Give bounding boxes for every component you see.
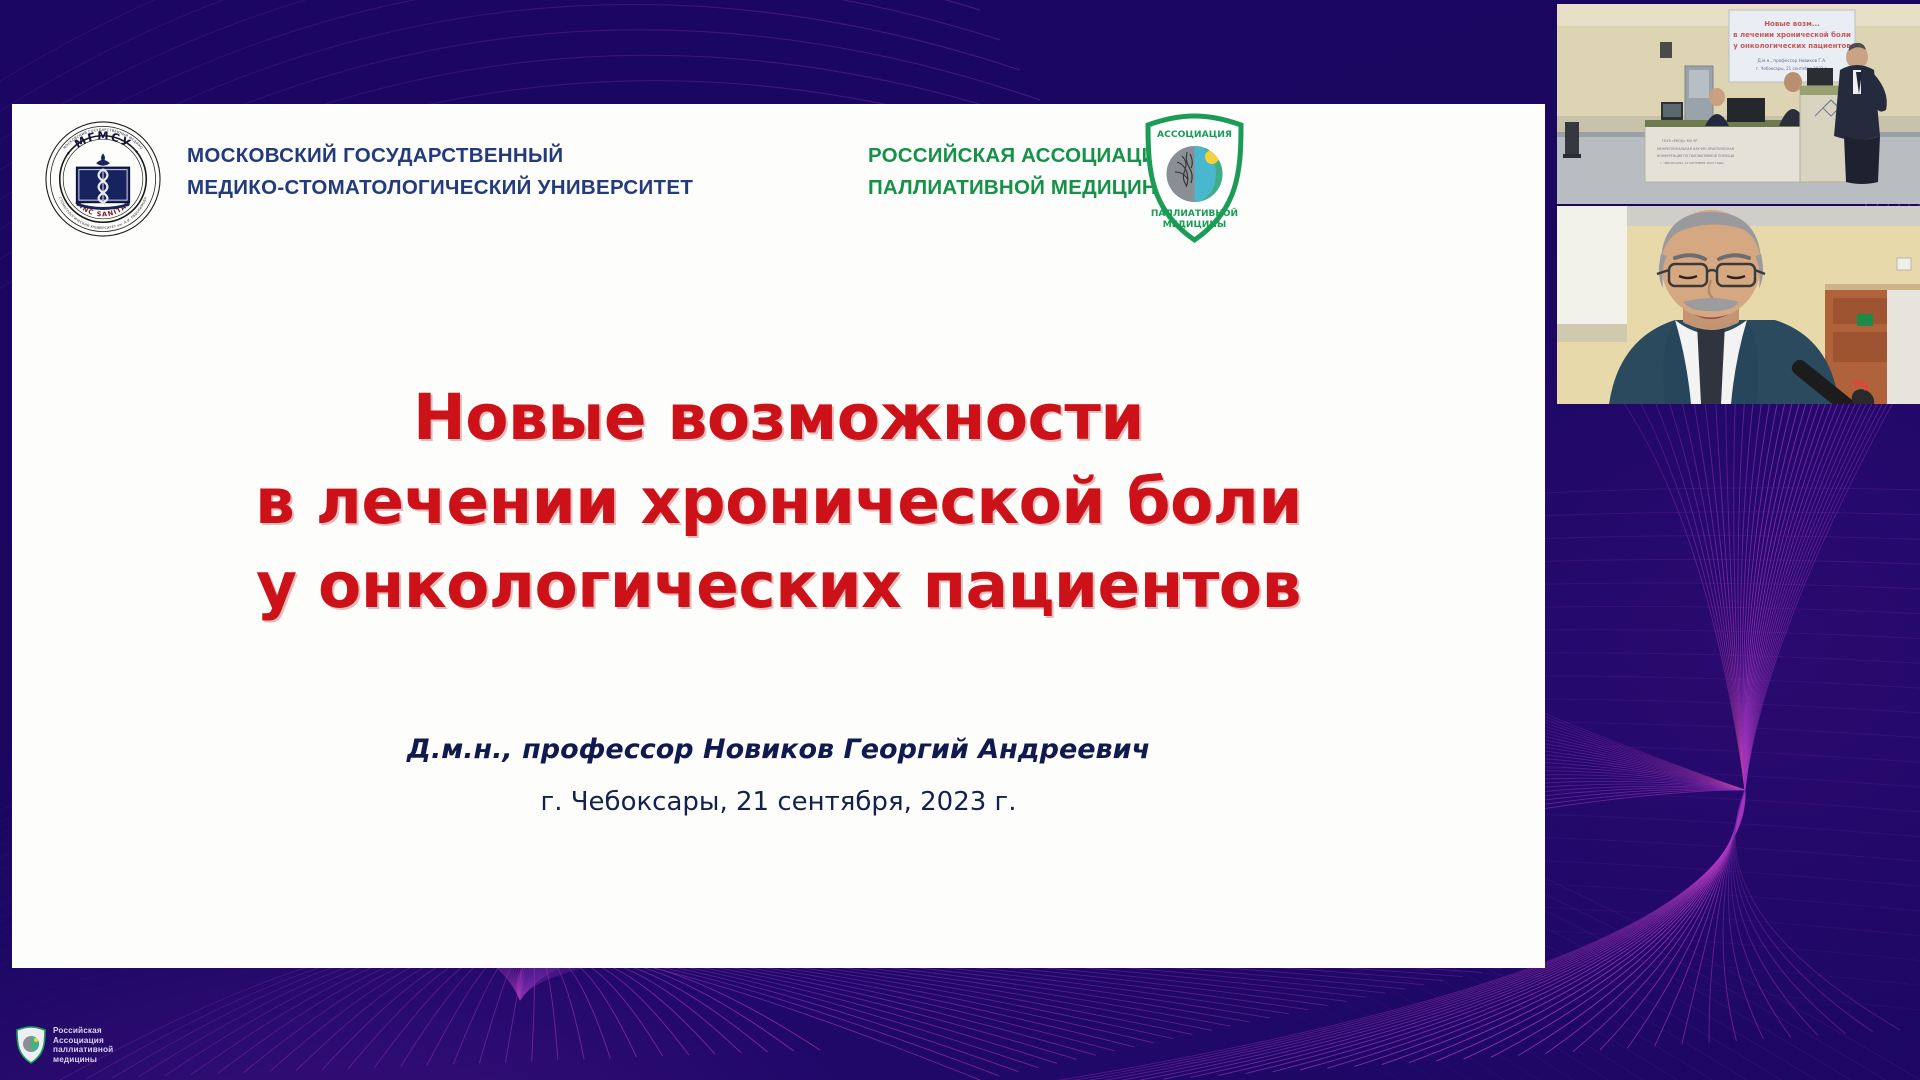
conference-room-video-frame: Новые возм... в лечении хронической боли… xyxy=(1557,4,1920,204)
watermark-palliative-association: Российская Ассоциация паллиативной медиц… xyxy=(16,1026,113,1064)
svg-text:Д.м.н., профессор Новиков Г.А.: Д.м.н., профессор Новиков Г.А. xyxy=(1758,58,1827,63)
slide-date-location: г. Чебоксары, 21 сентября, 2023 г. xyxy=(12,787,1545,817)
speaker-video-frame xyxy=(1557,206,1920,404)
svg-text:ГБУЗ «РКОД» МЗ ЧР: ГБУЗ «РКОД» МЗ ЧР xyxy=(1662,139,1697,143)
watermark-shield-icon xyxy=(16,1026,46,1064)
mgmsu-seal-icon: · МГМСУ · HINC SANITAS МОСКОВСКИЙ ГОСУДА… xyxy=(44,120,162,238)
slide-author: Д.м.н., профессор Новиков Георгий Андрее… xyxy=(12,734,1545,765)
emblem-bottom-text-1: ПАЛЛИАТИВНОЙ xyxy=(1151,207,1238,219)
presentation-stage: · МГМСУ · HINC SANITAS МОСКОВСКИЙ ГОСУДА… xyxy=(0,0,1920,1080)
video-tile-conference-room[interactable]: Новые возм... в лечении хронической боли… xyxy=(1557,4,1920,204)
svg-text:МЕЖРЕГИОНАЛЬНАЯ НАУЧНО-ПРАКТИЧ: МЕЖРЕГИОНАЛЬНАЯ НАУЧНО-ПРАКТИЧЕСКАЯ xyxy=(1657,147,1734,151)
watermark-text: Российская Ассоциация паллиативной медиц… xyxy=(53,1026,113,1064)
video-tile-speaker[interactable] xyxy=(1557,206,1920,404)
svg-text:Новые возм...: Новые возм... xyxy=(1764,20,1820,28)
presentation-slide[interactable]: · МГМСУ · HINC SANITAS МОСКОВСКИЙ ГОСУДА… xyxy=(12,104,1545,968)
slide-title: Новые возможности в лечении хронической … xyxy=(12,376,1545,628)
university-name: МОСКОВСКИЙ ГОСУДАРСТВЕННЫЙ МЕДИКО-СТОМАТ… xyxy=(187,140,693,204)
svg-text:КОНФЕРЕНЦИЯ ПО ПАЛЛИАТИВНОЙ ПО: КОНФЕРЕНЦИЯ ПО ПАЛЛИАТИВНОЙ ПОМОЩИ xyxy=(1657,153,1735,158)
palliative-association-emblem-icon: АССОЦИАЦИЯ ПАЛЛИАТИВНОЙ МЕДИЦИНЫ xyxy=(1142,112,1247,244)
svg-text:у онкологических пациентов: у онкологических пациентов xyxy=(1733,42,1851,50)
association-name: РОССИЙСКАЯ АССОЦИАЦИЯ ПАЛЛИАТИВНОЙ МЕДИЦ… xyxy=(868,140,1177,204)
slide-header: · МГМСУ · HINC SANITAS МОСКОВСКИЙ ГОСУДА… xyxy=(12,104,1545,254)
emblem-bottom-text-2: МЕДИЦИНЫ xyxy=(1163,220,1226,230)
emblem-top-text: АССОЦИАЦИЯ xyxy=(1157,129,1232,140)
svg-text:г. ЧЕБОКСАРЫ, 21 СЕНТЯБРЯ 2023: г. ЧЕБОКСАРЫ, 21 СЕНТЯБРЯ 2023 ГОДА xyxy=(1660,161,1724,165)
svg-text:в лечении хронической боли: в лечении хронической боли xyxy=(1733,31,1851,39)
